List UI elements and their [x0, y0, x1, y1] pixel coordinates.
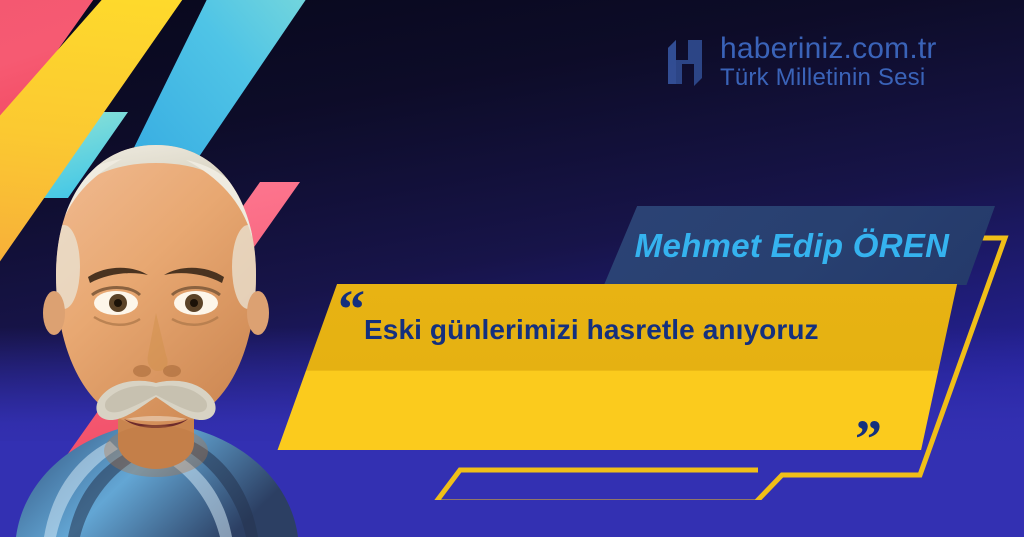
- site-logo[interactable]: haberiniz.com.tr Türk Milletinin Sesi: [660, 33, 937, 90]
- site-name: haberiniz.com.tr: [720, 33, 937, 65]
- quote-card-graphic: haberiniz.com.tr Türk Milletinin Sesi Me…: [0, 0, 1024, 537]
- quote-close-mark: ”: [855, 412, 882, 466]
- quote-card: “ Eski günlerimizi hasretle anıyoruz ”: [272, 284, 964, 450]
- quote-text: Eski günlerimizi hasretle anıyoruz: [364, 308, 864, 351]
- logo-text-block: haberiniz.com.tr Türk Milletinin Sesi: [720, 33, 937, 90]
- site-tagline: Türk Milletinin Sesi: [720, 65, 937, 90]
- haberiniz-h-mark-icon: [660, 34, 706, 90]
- speaker-name-banner: Mehmet Edip ÖREN: [575, 206, 995, 285]
- quote-open-mark: “: [338, 282, 365, 336]
- speaker-portrait: [6, 127, 306, 537]
- speaker-name: Mehmet Edip ÖREN: [575, 206, 995, 285]
